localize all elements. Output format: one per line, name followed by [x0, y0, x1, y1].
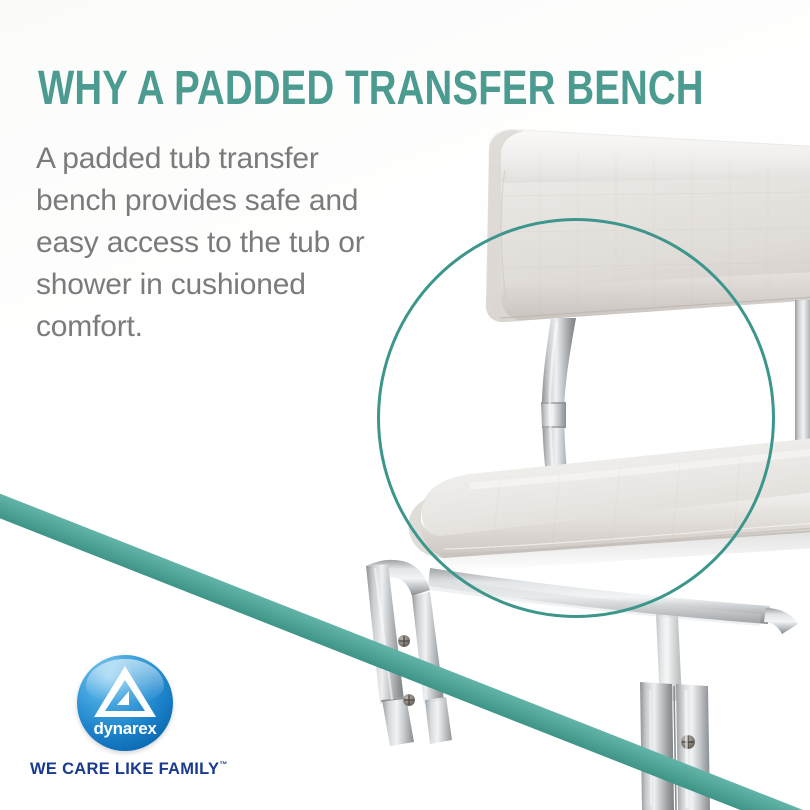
brand-logo: dynarex WE CARE LIKE FAMILY™: [30, 655, 220, 779]
dynarex-triangle-icon: [77, 661, 173, 723]
body-copy: A padded tub transfer bench provides saf…: [36, 138, 386, 348]
dynarex-logo-badge: dynarex: [77, 655, 173, 751]
brand-tagline: WE CARE LIKE FAMILY™: [30, 760, 220, 779]
backrest-support-post-right: [795, 300, 810, 470]
trademark-symbol: ™: [219, 760, 227, 769]
marketing-graphic: WHY A PADDED TRANSFER BENCH A padded tub…: [0, 0, 810, 810]
dynarex-wordmark: dynarex: [77, 719, 173, 739]
tagline-text: WE CARE LIKE FAMILY: [30, 760, 219, 778]
page-title: WHY A PADDED TRANSFER BENCH: [38, 62, 704, 116]
highlight-circle: [377, 218, 775, 618]
bench-leg-front-right: [656, 614, 682, 702]
